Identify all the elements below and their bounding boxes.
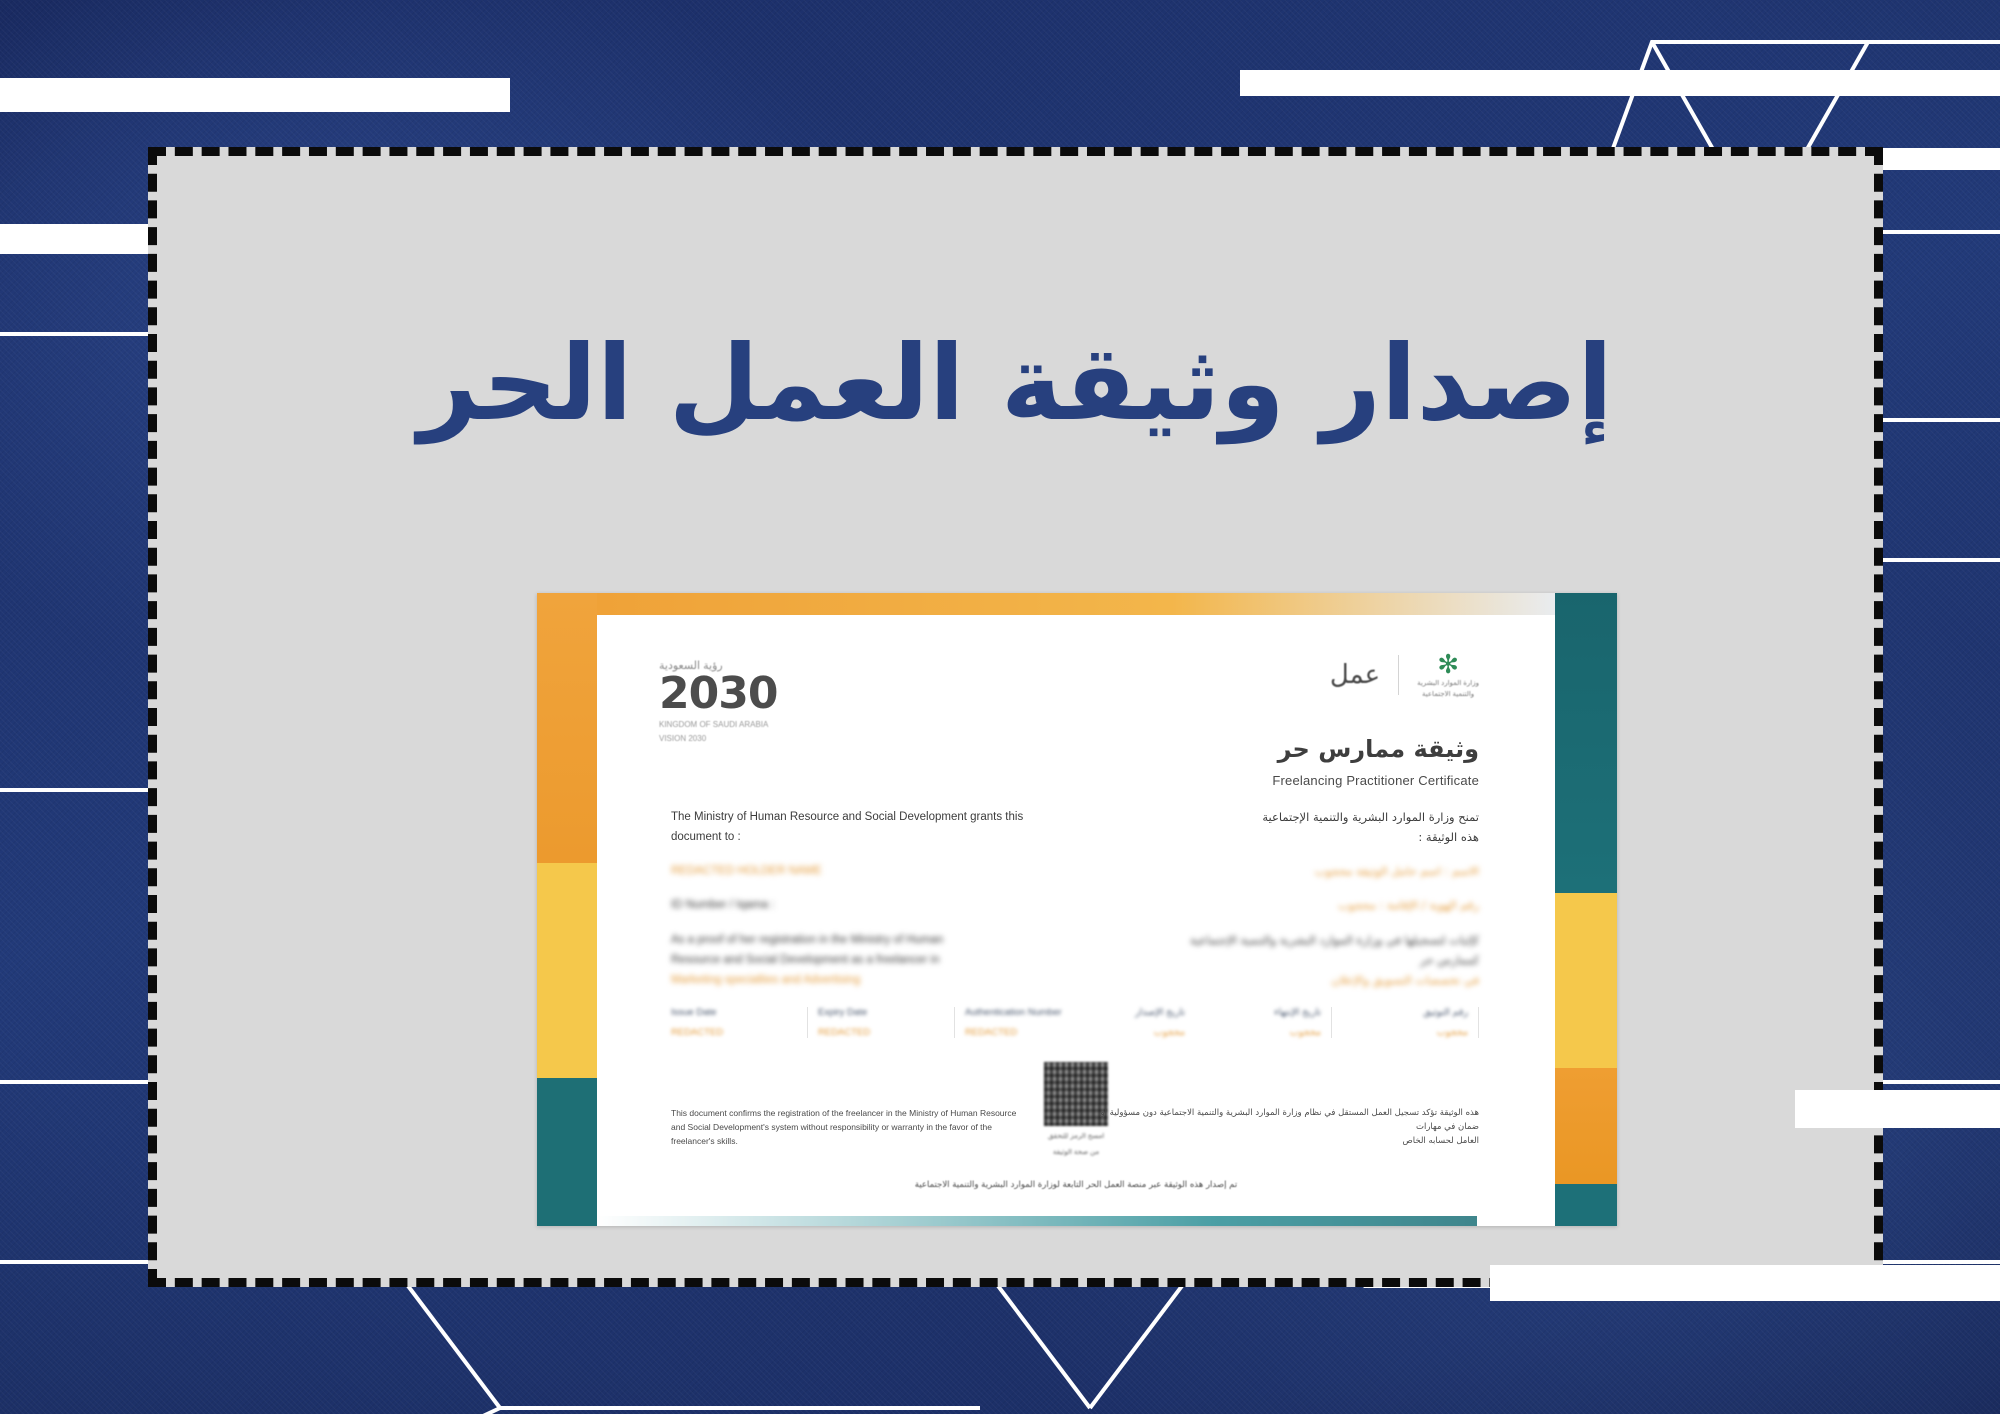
palm-swords-icon: ✻ [1437, 651, 1459, 677]
field-label: تاريخ الإنتهاء [1195, 1007, 1321, 1018]
grant-text-ar-2: هذه الوثيقة : [1059, 827, 1479, 847]
field-label: رقم التوثيق [1342, 1007, 1468, 1018]
certificate-footer-english: This document confirms the registration … [671, 1106, 1071, 1148]
certificate-heading: وثيقة ممارس حر Freelancing Practitioner … [1272, 735, 1479, 788]
field-cell: Expiry Date REDACTED [807, 1007, 954, 1038]
vision-2030-logo: رؤية السعودية 2030 KINGDOM OF SAUDI ARAB… [659, 659, 809, 744]
qr-caption-line-2: من صحة الوثيقة [1044, 1148, 1108, 1158]
statement-en-3: Marketing specialties and Advertising [671, 970, 1101, 990]
spacer-ar-1 [1059, 847, 1479, 861]
certificate-card: رؤية السعودية 2030 KINGDOM OF SAUDI ARAB… [537, 593, 1617, 1226]
certificate-body-english: The Ministry of Human Resource and Socia… [671, 807, 1101, 990]
certificate-heading-english: Freelancing Practitioner Certificate [1272, 773, 1479, 788]
vision-2030-number: 2030 [659, 672, 809, 716]
field-value: REDACTED [671, 1027, 797, 1038]
accent-bar-top-right [1240, 70, 2000, 96]
footer-en-2: and Social Development's system without … [671, 1120, 1071, 1134]
field-cell: تاريخ الإصدار محجوب [1059, 1007, 1185, 1038]
footer-en-1: This document confirms the registration … [671, 1106, 1071, 1120]
holder-name-en: REDACTED HOLDER NAME [671, 861, 1101, 881]
field-value: محجوب [1195, 1027, 1321, 1038]
id-number-label-en: ID Number / Iqama : [671, 895, 1101, 915]
statement-ar-1: كإثبات لتسجيلها في وزارة الموارد البشرية… [1059, 930, 1479, 950]
statement-ar-3: في تخصصات التسويق والإعلان [1059, 970, 1479, 990]
amal-wordmark-logo: عمل [1330, 660, 1380, 690]
holder-name-ar: الاسم : اسم حامل الوثيقة محجوب [1059, 861, 1479, 881]
spacer-1 [671, 847, 1101, 861]
accent-bar-bottom-right [1795, 1090, 2000, 1128]
decor-orange-left [537, 593, 597, 863]
decor-teal-top-right [1555, 593, 1617, 893]
page-title: إصدار وثيقة العمل الحر [157, 324, 1874, 444]
vision-2030-arabic-label: رؤية السعودية [659, 659, 809, 672]
field-value: REDACTED [818, 1027, 944, 1038]
decor-yellow-right [1555, 893, 1617, 1068]
field-value: محجوب [1059, 1027, 1185, 1038]
vision-2030-subtitle-2: VISION 2030 [659, 734, 809, 744]
ministry-logo: ✻ وزارة الموارد البشرية والتنمية الاجتما… [1417, 651, 1479, 699]
vision-2030-subtitle-1: KINGDOM OF SAUDI ARABIA [659, 720, 809, 730]
certificate-body-arabic: تمنح وزارة الموارد البشرية والتنمية الإج… [1059, 807, 1479, 990]
field-cell: Issue Date REDACTED [671, 1007, 807, 1038]
field-label: Expiry Date [818, 1007, 944, 1018]
slide-root: إصدار وثيقة العمل الحر رؤية السعودية [0, 0, 2000, 1414]
certificate-heading-arabic: وثيقة ممارس حر [1272, 735, 1479, 763]
statement-en-1: As a proof of her registration in the Mi… [671, 930, 1101, 950]
grant-text-ar-1: تمنح وزارة الموارد البشرية والتنمية الإج… [1059, 807, 1479, 827]
field-label: Issue Date [671, 1007, 797, 1018]
decor-teal-bottom-bar [597, 1216, 1477, 1226]
decor-orange-top-bar [597, 593, 1555, 615]
footer-ar-2: العامل لحسابه الخاص [1079, 1134, 1479, 1148]
decor-teal-left [537, 1078, 597, 1226]
ministry-name-line-1: وزارة الموارد البشرية [1417, 679, 1479, 688]
spacer-2 [671, 881, 1101, 895]
id-number-ar: رقم الهوية / الإقامة : محجوب [1059, 895, 1479, 915]
grant-text-en-2: document to : [671, 827, 1101, 847]
grant-text-en-1: The Ministry of Human Resource and Socia… [671, 807, 1101, 827]
accent-bar-top-left [0, 78, 510, 112]
content-panel: إصدار وثيقة العمل الحر رؤية السعودية [148, 147, 1883, 1287]
statement-en-2: Resource and Social Development as a fre… [671, 950, 1101, 970]
spacer-3 [671, 916, 1101, 930]
statement-ar-2: كممارس حر [1059, 950, 1479, 970]
header-logos: عمل ✻ وزارة الموارد البشرية والتنمية الا… [1330, 651, 1479, 699]
accent-bar-bottom-strip [1490, 1265, 2000, 1301]
certificate-body: رؤية السعودية 2030 KINGDOM OF SAUDI ARAB… [597, 615, 1555, 1216]
field-value: محجوب [1342, 1027, 1468, 1038]
certificate-fields-arabic: تاريخ الإصدار محجوب تاريخ الإنتهاء محجوب… [1059, 1007, 1479, 1038]
field-cell: تاريخ الإنتهاء محجوب [1185, 1007, 1332, 1038]
spacer-ar-2 [1059, 881, 1479, 895]
certificate-footer-center: تم إصدار هذه الوثيقة عبر منصة العمل الحر… [597, 1180, 1555, 1190]
certificate-fields-english: Issue Date REDACTED Expiry Date REDACTED… [671, 1007, 1101, 1038]
ministry-name-line-2: والتنمية الاجتماعية [1422, 690, 1474, 699]
footer-ar-1: هذه الوثيقة تؤكد تسجيل العمل المستقل في … [1079, 1106, 1479, 1134]
decor-teal-bottom-right [1555, 1184, 1617, 1226]
spacer-ar-3 [1059, 916, 1479, 930]
footer-en-3: freelancer's skills. [671, 1134, 1071, 1148]
field-label: تاريخ الإصدار [1059, 1007, 1185, 1018]
decor-yellow-left [537, 863, 597, 1078]
certificate-footer-arabic: هذه الوثيقة تؤكد تسجيل العمل المستقل في … [1079, 1106, 1479, 1148]
field-cell: رقم التوثيق محجوب [1332, 1007, 1479, 1038]
logo-divider [1398, 655, 1399, 695]
certificate-image[interactable]: رؤية السعودية 2030 KINGDOM OF SAUDI ARAB… [537, 593, 1617, 1226]
